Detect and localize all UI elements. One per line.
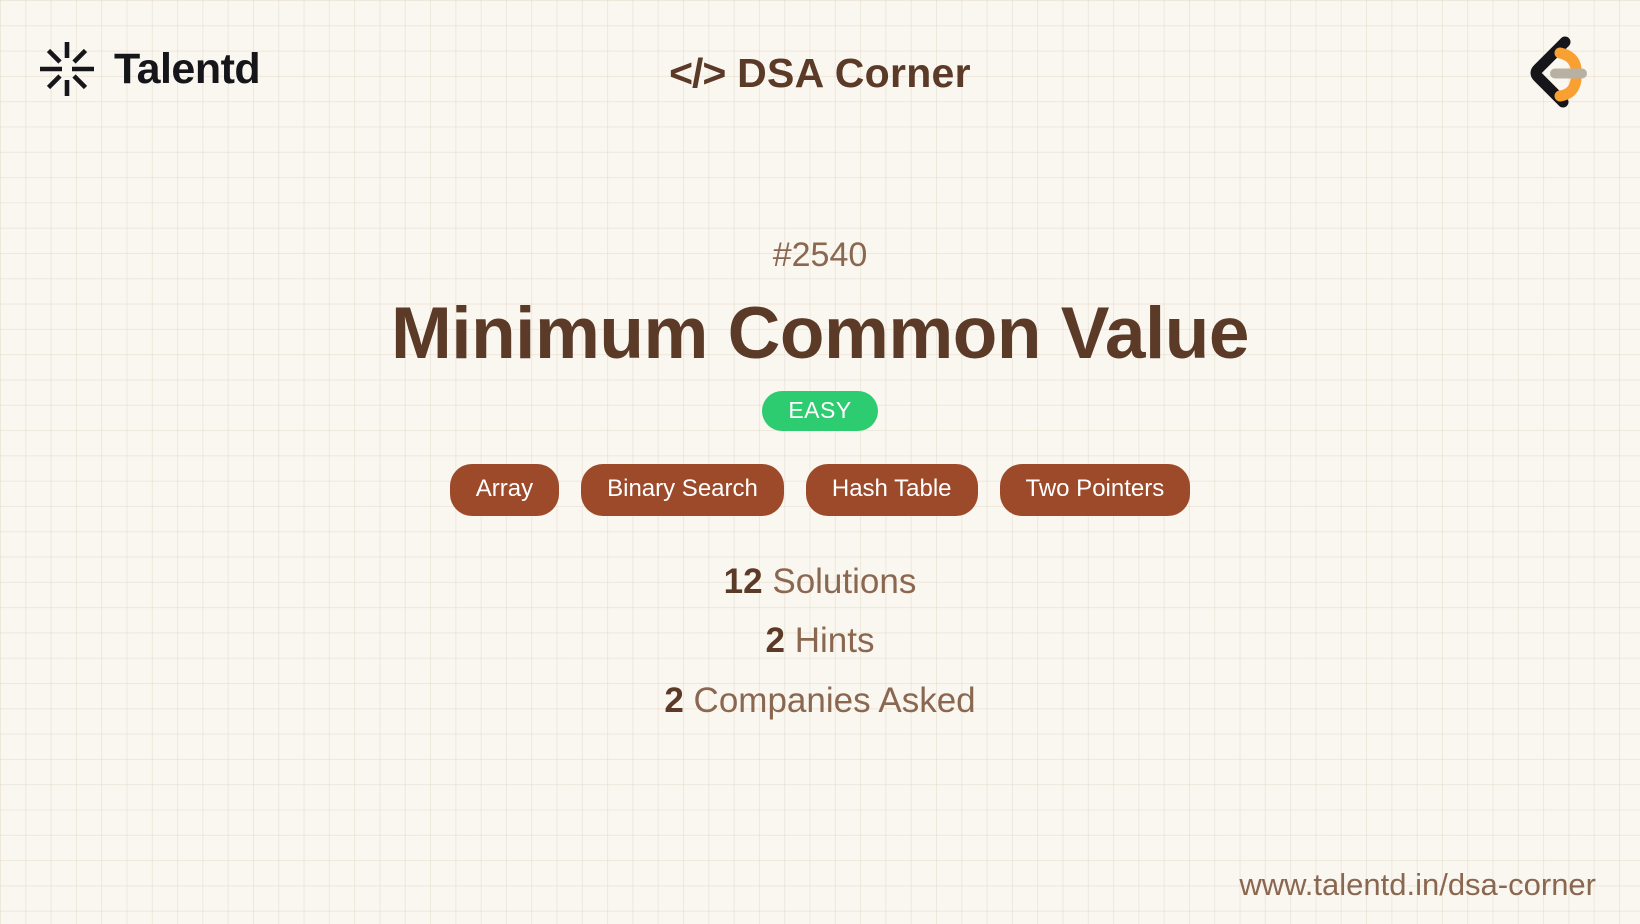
problem-title: Minimum Common Value <box>391 296 1249 373</box>
topic-tag[interactable]: Binary Search <box>581 464 784 516</box>
topic-tag[interactable]: Two Pointers <box>1000 464 1191 516</box>
code-glyph-icon: </> <box>669 50 725 96</box>
stat-row: 12 Solutions <box>724 563 917 602</box>
problem-number: #2540 <box>773 238 868 272</box>
stat-label: Hints <box>795 621 875 660</box>
footer-url[interactable]: www.talentd.in/dsa-corner <box>1239 869 1596 900</box>
topic-tag[interactable]: Array <box>450 464 559 516</box>
stat-label: Companies Asked <box>694 681 976 720</box>
leetcode-logo-icon <box>1510 28 1596 114</box>
stat-value: 12 <box>724 562 763 601</box>
difficulty-badge: EASY <box>762 391 877 431</box>
page-footer: www.talentd.in/dsa-corner <box>0 845 1640 924</box>
topic-tag[interactable]: Hash Table <box>806 464 978 516</box>
stat-value: 2 <box>766 621 785 660</box>
stat-label: Solutions <box>772 562 916 601</box>
page-header: Talentd </> DSA Corner <box>0 0 1640 155</box>
topic-tag-list: Array Binary Search Hash Table Two Point… <box>450 464 1190 516</box>
page-title-text: DSA Corner <box>737 50 971 96</box>
stat-value: 2 <box>664 681 683 720</box>
problem-card: #2540 Minimum Common Value EASY Array Bi… <box>0 155 1640 845</box>
stats-list: 12 Solutions 2 Hints 2 Companies Asked <box>664 563 975 721</box>
page-title: </> DSA Corner <box>0 50 1640 97</box>
stat-row: 2 Companies Asked <box>664 682 975 721</box>
stat-row: 2 Hints <box>766 622 875 661</box>
